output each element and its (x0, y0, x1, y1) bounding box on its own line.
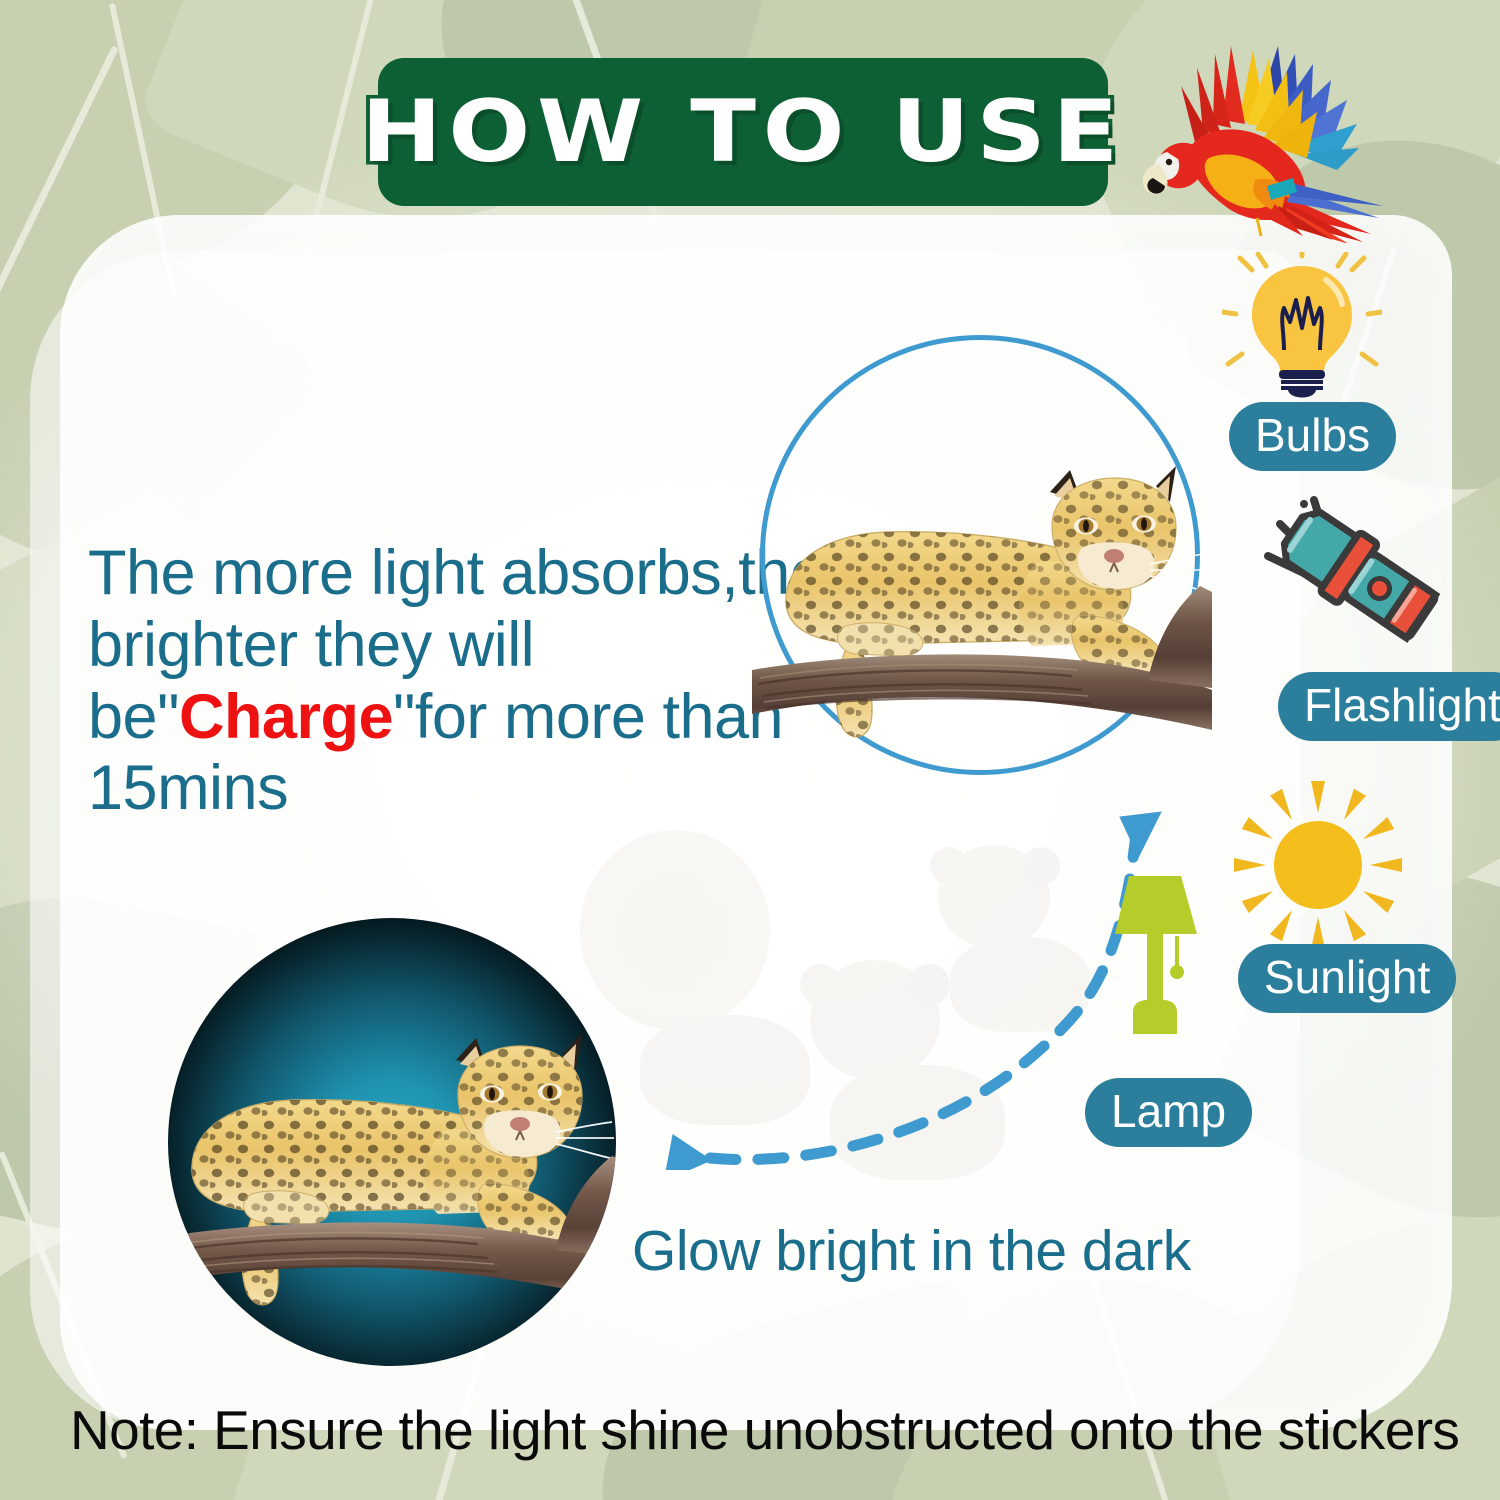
footer-note: Note: Ensure the light shine unobstructe… (70, 1398, 1459, 1462)
bulb-icon (1222, 252, 1382, 407)
glow-sticker-circle (168, 918, 616, 1366)
page-title: HOW TO USE (361, 82, 1125, 182)
leopard-illustration-lit (752, 430, 1212, 760)
lamp-label: Lamp (1085, 1078, 1252, 1147)
sunlight-label: Sunlight (1238, 944, 1456, 1013)
flashlight-icon (1258, 482, 1458, 662)
scarlet-macaw-illustration (1135, 28, 1385, 243)
header-banner: HOW TO USE (378, 58, 1108, 206)
sun-icon (1228, 775, 1408, 960)
infographic-root: HOW TO USE (0, 0, 1500, 1500)
glow-caption: Glow bright in the dark (632, 1218, 1191, 1284)
paragraph-highlight-charge: Charge (179, 682, 393, 752)
leopard-illustration-glowing (168, 998, 616, 1328)
flashlight-label: Flashlight (1278, 672, 1500, 741)
lamp-icon (1095, 862, 1215, 1047)
bulb-label: Bulbs (1229, 402, 1396, 471)
